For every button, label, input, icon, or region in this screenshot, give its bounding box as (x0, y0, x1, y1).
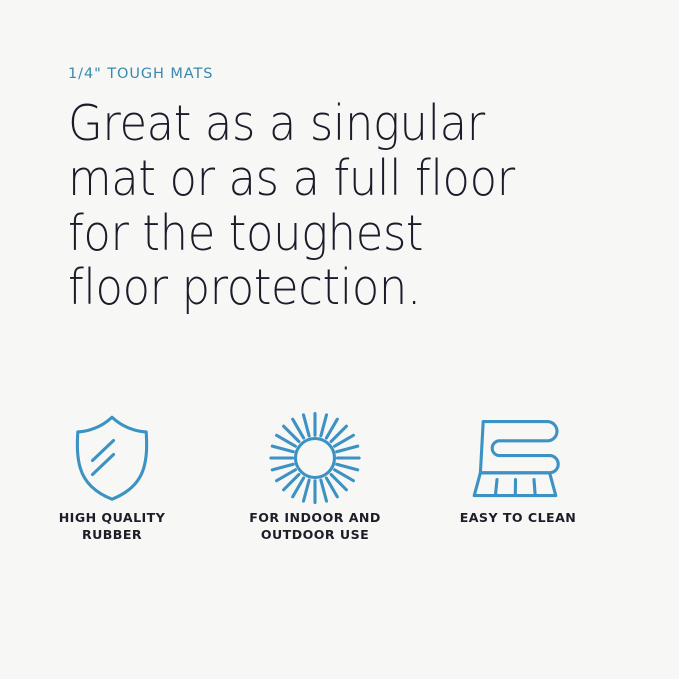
feature-caption: EASY TO CLEAN (423, 510, 613, 527)
feature-row: HIGH QUALITY RUBBER (0, 405, 679, 575)
feature-item-indoor-outdoor: FOR INDOOR AND OUTDOOR USE (220, 405, 410, 543)
scrub-brush-icon (470, 417, 566, 499)
product-feature-banner: 1/4" TOUGH MATS Great as a singular mat … (0, 0, 679, 679)
shield-icon-slot (17, 405, 207, 510)
headline-line: floor protection. (68, 261, 562, 316)
feature-caption-line: EASY TO CLEAN (423, 510, 613, 527)
feature-caption: FOR INDOOR AND OUTDOOR USE (220, 510, 410, 543)
feature-caption-line: RUBBER (17, 527, 207, 544)
headline-line: Great as a singular (68, 97, 562, 152)
sun-icon-slot (220, 405, 410, 510)
feature-item-easy-to-clean: EASY TO CLEAN (423, 405, 613, 527)
feature-caption-line: FOR INDOOR AND (220, 510, 410, 527)
eyebrow-label: 1/4" TOUGH MATS (68, 66, 628, 83)
headline-line: mat or as a full floor (68, 152, 562, 207)
sun-icon (265, 408, 365, 508)
feature-caption-line: HIGH QUALITY (17, 510, 207, 527)
page-title: Great as a singular mat or as a full flo… (68, 97, 562, 316)
feature-caption-line: OUTDOOR USE (220, 527, 410, 544)
shield-icon (74, 414, 150, 502)
headline-line: for the toughest (68, 207, 562, 262)
scrub-brush-icon-slot (423, 405, 613, 510)
feature-item-high-quality-rubber: HIGH QUALITY RUBBER (17, 405, 207, 543)
copy-block: 1/4" TOUGH MATS Great as a singular mat … (68, 66, 628, 316)
feature-caption: HIGH QUALITY RUBBER (17, 510, 207, 543)
